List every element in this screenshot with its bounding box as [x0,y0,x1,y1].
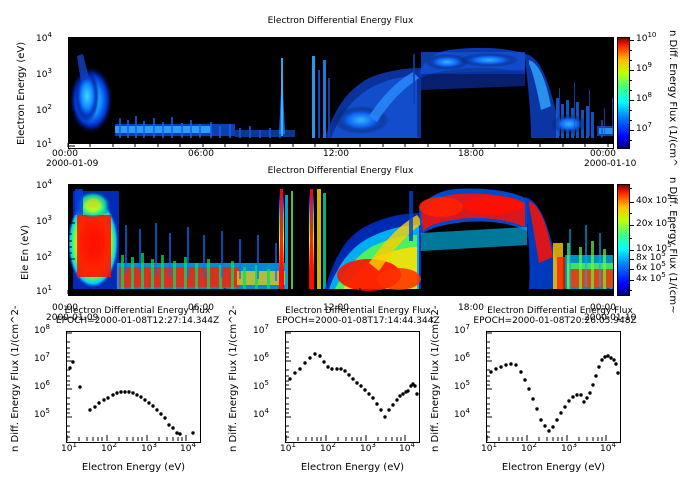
spectrum-1-ytick-1: 106 [253,354,269,364]
panel1-title: Electron Differential Energy Flux [68,16,613,26]
spectrum-1-ytick-2: 105 [253,382,269,392]
spectrum-2-ytick-1: 106 [454,354,470,364]
spectrum-1-ytick-0: 107 [253,326,269,336]
spectrum-1-xlabel: Electron Energy (eV) [285,462,420,473]
panel2-ytick-3: 103 [36,217,52,227]
panel2-ylabel: Ele En (eV) [20,225,31,280]
spectrum-2-ytick-3: 104 [454,410,470,420]
spectrum-0-epoch: EPOCH=2000-01-08T12:27:14.344Z [30,316,245,326]
panel1-ytick-3: 103 [36,70,52,80]
spectrum-2-yaxis: 107 106 105 104 [454,326,486,446]
panel1-cbar-label-wrap: n Diff. Energy Flux (1/(cm^ [678,30,697,41]
panel1-cbar-tick-10: 1010 [636,34,656,44]
spectrum-2-xtick-1: 102 [521,444,537,454]
panel1-ytick-1: 101 [36,140,52,150]
spectrum-1-xtick-3: 104 [399,444,415,454]
panel2-colorbar-axis: 40x 105 20x 105 10x 105 8x 105 6x 105 4x… [629,180,689,300]
panel2-ytick-1: 101 [36,287,52,297]
spectrum-1-ytick-3: 104 [253,410,269,420]
panel1-cbar-tick-7: 107 [636,124,652,134]
panel1-xtick-3: 18:00 [458,149,484,159]
panel2-spectrogram-image [69,185,613,295]
spectrum-1-xtick-0: 101 [280,444,296,454]
panel1-cbar-tick-8: 108 [636,94,652,104]
panel1-ylabel: Electron Energy (eV) [16,42,27,145]
panel2-ytick-4: 104 [36,181,52,191]
panel2-plot-area[interactable] [68,184,614,296]
spectrum-0-ytick-2: 106 [34,382,50,392]
spectrum-2-xtick-0: 101 [481,444,497,454]
spectrum-1-xtick-1: 102 [320,444,336,454]
spectrum-0-title: Electron Differential Energy Flux [30,306,245,316]
spectrum-0-ylabel: n Diff. Energy Flux (1/(cm^2- [10,305,21,452]
panel2-cbar-tick-5: 4x 105 [636,274,666,284]
spectrum-0-xtick-2: 103 [141,444,157,454]
spectrum-0-ytick-3: 105 [34,410,50,420]
spectrum-0-xlabel: Electron Energy (eV) [66,462,201,473]
spectrum-2-title: Electron Differential Energy Flux [460,306,660,316]
spectrum-1-title: Electron Differential Energy Flux [258,306,458,316]
spectrum-2-xtick-2: 103 [561,444,577,454]
panel1-colorbar-axis: 1010 109 108 107 [629,33,669,153]
spectrum-0-ytick-1: 107 [34,354,50,364]
spectrum-2-xlabel: Electron Energy (eV) [486,462,621,473]
spectrum-1-yaxis: 107 106 105 104 [253,326,285,446]
panel1-ytick-4: 104 [36,34,52,44]
spectrum-2-ytick-2: 105 [454,382,470,392]
spectrum-1-plot-area[interactable] [285,331,420,443]
spectrum-1-scatter [286,332,419,442]
spectrum-0-xtick-0: 101 [61,444,77,454]
panel1-cbar-tick-9: 109 [636,64,652,74]
spectrum-0-xtick-1: 102 [101,444,117,454]
spectrum-2-epoch: EPOCH=2000-01-08T20:26:05.948Z [455,316,655,326]
panel1-spectrogram-image [69,38,613,148]
panel2-title: Electron Differential Energy Flux [68,166,613,176]
panel1-ytick-2: 102 [36,106,52,116]
spectrum-0-yaxis: 108 107 106 105 [34,326,66,446]
spectrum-2-ylabel: n Diff. Energy Flux (1/(cm^2- [430,305,441,452]
spectrum-2-xtick-3: 104 [600,444,616,454]
panel1-xtick-1: 06:00 [188,149,214,159]
spectrum-0-xtick-3: 104 [180,444,196,454]
spectrum-1-ylabel: n Diff. Energy Flux (1/(cm^2- [228,305,239,452]
spectrum-1-xtick-2: 103 [360,444,376,454]
panel2-ytick-2: 102 [36,253,52,263]
spectrum-2-ytick-0: 107 [454,326,470,336]
panel1-xtick-0: 00:00 [52,149,78,159]
spectrum-2-scatter [487,332,620,442]
spectrogram-figure: Electron Differential Energy Flux Electr… [0,0,697,492]
panel1-xtick-2: 12:00 [323,149,349,159]
spectrum-0-plot-area[interactable] [66,331,201,443]
panel2-colorbar-label: n Diff. Energy Flux (1/(cm~ [667,177,678,314]
spectrum-0-scatter [67,332,200,442]
panel1-xtick-4: 00:00 [590,149,616,159]
panel2-yaxis: 104 103 102 101 [36,179,68,299]
panel2-cbar-label-wrap: n Diff. Energy Flux (1/(cm~ [678,177,697,188]
spectrum-0-ytick-0: 108 [34,326,50,336]
spectrum-2-plot-area[interactable] [486,331,621,443]
panel1-plot-area[interactable] [68,37,614,149]
spectrum-1-epoch: EPOCH=2000-01-08T17:14:44.344Z [258,316,458,326]
panel1-colorbar-label: n Diff. Energy Flux (1/(cm^ [667,30,678,167]
panel1-yaxis: 104 103 102 101 [36,32,68,152]
